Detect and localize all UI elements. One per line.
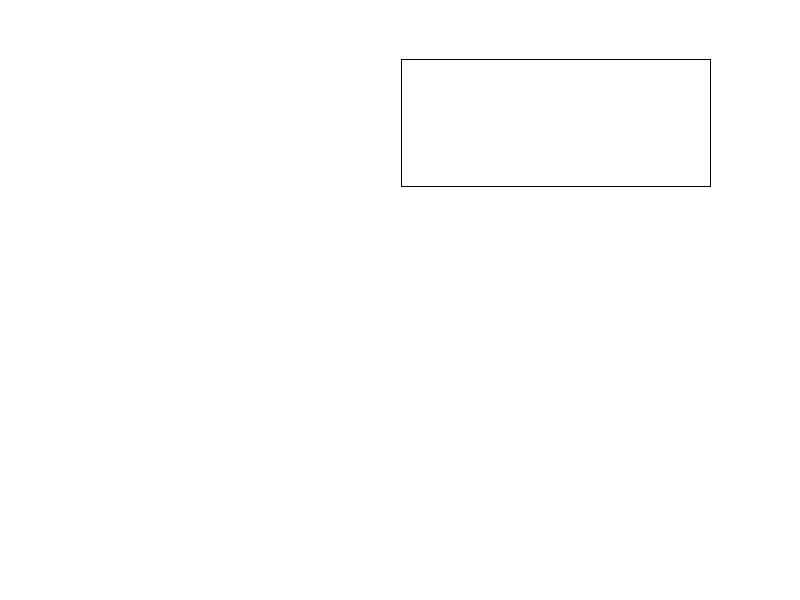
figure-canvas (0, 0, 800, 600)
chart-legend[interactable] (401, 59, 711, 187)
